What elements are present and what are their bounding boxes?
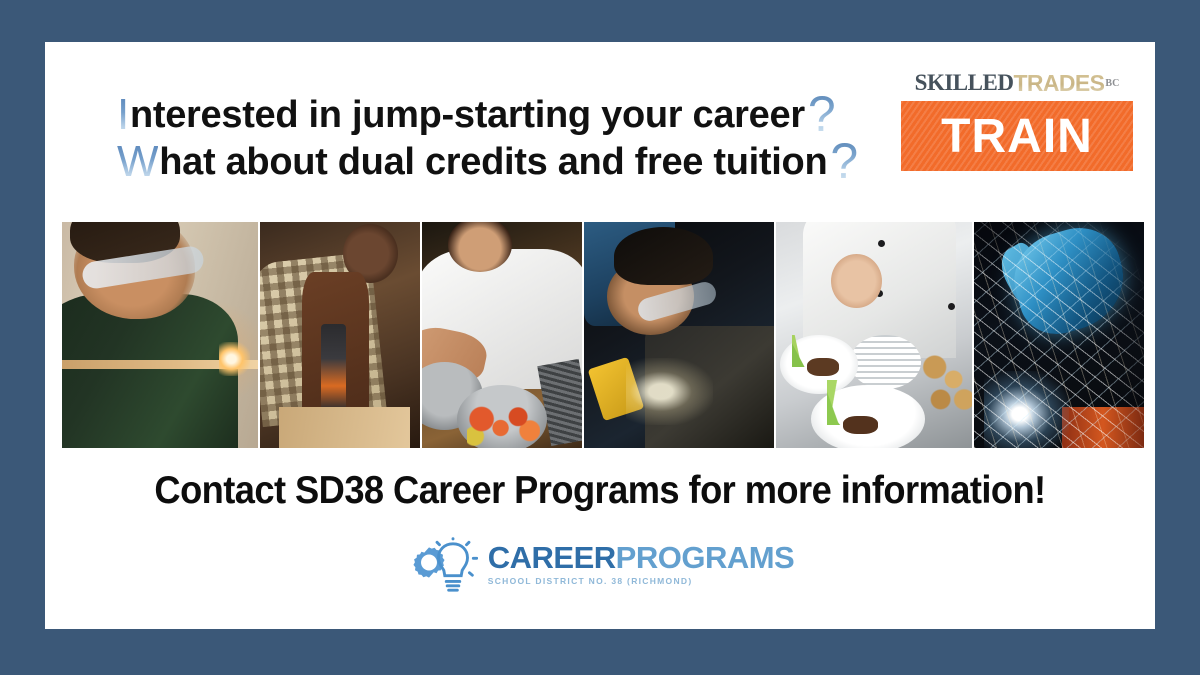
skilledtradesbc-wordmark: SKILLEDTRADESBC xyxy=(901,70,1133,96)
question-mark-icon-2: ? xyxy=(830,131,858,192)
career-programs-title: CAREERPROGRAMS xyxy=(488,542,794,573)
headline-line-1: I nterested in jump-starting your career… xyxy=(117,80,917,127)
poster-card: I nterested in jump-starting your career… xyxy=(45,42,1155,629)
photo-torch-flame xyxy=(219,342,250,376)
photo-face xyxy=(448,222,512,272)
photo-power-drill xyxy=(321,324,347,410)
photo-green-garnish xyxy=(827,380,894,425)
skilledtradesbc-train-logo: SKILLEDTRADESBC TRAIN xyxy=(901,70,1133,171)
career-programs-logo: CAREERPROGRAMS SCHOOL DISTRICT NO. 38 (R… xyxy=(45,534,1155,596)
photo-culinary-prep xyxy=(422,222,582,448)
photo-green-garnish xyxy=(792,335,843,367)
headline-text-2: hat about dual credits and free tuition xyxy=(159,139,827,185)
train-badge: TRAIN xyxy=(901,101,1133,171)
lightbulb-icon xyxy=(428,537,478,595)
logo-word-programs: PROGRAMS xyxy=(616,540,795,575)
career-programs-icon xyxy=(406,534,480,596)
photo-chopped-vegetables xyxy=(467,401,541,446)
contact-message: Contact SD38 Career Programs for more in… xyxy=(84,469,1116,513)
photo-welding-sparks xyxy=(974,222,1144,448)
wordmark-bc-superscript: BC xyxy=(1105,71,1119,97)
photo-automotive-repair xyxy=(584,222,774,448)
photo-coat-button xyxy=(878,240,885,247)
wordmark-skilled: SKILLED xyxy=(915,70,1014,96)
photo-chef-plating xyxy=(776,222,972,448)
headline-line-2: W hat about dual credits and free tuitio… xyxy=(117,127,917,174)
wordmark-trades: TRADES xyxy=(1013,70,1104,96)
career-programs-subtitle: SCHOOL DISTRICT NO. 38 (RICHMOND) xyxy=(488,576,794,586)
photo-carpentry-drilling xyxy=(260,222,420,448)
photo-hands xyxy=(831,254,882,308)
photo-light-glow xyxy=(626,358,713,426)
photo-soldering-student xyxy=(62,222,258,448)
headline-block: I nterested in jump-starting your career… xyxy=(117,80,917,174)
poster-frame: I nterested in jump-starting your career… xyxy=(0,0,1200,675)
photo-strip xyxy=(62,222,1138,448)
photo-sparks xyxy=(974,222,1144,448)
photo-wood-board xyxy=(279,407,410,448)
photo-side-dish xyxy=(917,344,972,421)
train-label: TRAIN xyxy=(941,109,1093,164)
career-programs-wordmark: CAREERPROGRAMS SCHOOL DISTRICT NO. 38 (R… xyxy=(488,542,794,588)
logo-word-career: CAREER xyxy=(488,540,616,575)
photo-hair xyxy=(614,227,713,286)
headline-dropcap-w: W xyxy=(117,135,158,189)
